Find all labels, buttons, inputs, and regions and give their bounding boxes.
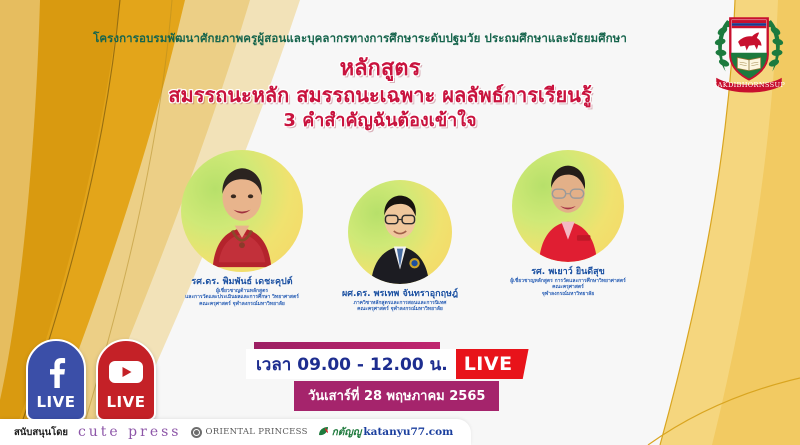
program-subtitle: โครงการอบรมพัฒนาศักยภาพครูผู้สอนและบุคลา… xyxy=(0,30,720,48)
sponsor-cute-press: cute press xyxy=(78,424,182,440)
speaker-card: รศ. พเยาว์ ยินดีสุข ผู้เชี่ยวชาญหลักสูตร… xyxy=(490,150,646,297)
schedule-banner: เวลา 09.00 - 12.00 น. LIVE วันเสาร์ที่ 2… xyxy=(246,342,546,411)
date-text: วันเสาร์ที่ 28 พฤษภาคม 2565 xyxy=(294,381,499,411)
facebook-live-label: LIVE xyxy=(37,393,76,419)
speaker-name: รศ. พเยาว์ ยินดีสุข xyxy=(490,267,646,277)
speaker-org-line-2: จุฬาลงกรณ์มหาวิทยาลัย xyxy=(490,291,646,297)
katanyu-url-label: katanyu77.com xyxy=(363,426,453,438)
status-badge: LIVE xyxy=(456,349,529,379)
sponsor-oriental-princess: ORIENTAL PRINCESS xyxy=(191,427,307,438)
speaker-name: ผศ.ดร. พรเทพ จันทราอุกฤษฎ์ xyxy=(320,289,480,299)
live-platform-badges: LIVE LIVE xyxy=(26,339,156,421)
speaker-list: รศ.ดร. พิมพันธ์ เดชะคุปต์ ผู้เชี่ยวชาญด้… xyxy=(0,150,800,340)
facebook-f-icon xyxy=(43,351,69,393)
avatar xyxy=(181,150,303,272)
title-line-3: 3 คำสำคัญฉันต้องเข้าใจ xyxy=(0,108,760,134)
katanyu-thai-label: กตัญญู xyxy=(332,425,362,440)
speaker-card: ผศ.ดร. พรเทพ จันทราอุกฤษฎ์ ภาควิชาหลักสู… xyxy=(320,180,480,313)
youtube-live-label: LIVE xyxy=(107,393,146,419)
oriental-princess-emblem-icon xyxy=(191,427,202,438)
title-line-2: สมรรถนะหลัก สมรรถนะเฉพาะ ผลลัพธ์การเรียน… xyxy=(0,82,760,108)
facebook-live-badge[interactable]: LIVE xyxy=(26,339,86,421)
sponsors-label: สนับสนุนโดย xyxy=(14,425,68,440)
katanyu-leaf-icon xyxy=(318,426,330,438)
sponsors-strip: สนับสนุนโดย cute press ORIENTAL PRINCESS… xyxy=(0,419,471,445)
speaker-org-line-1: คณะครุศาสตร์ จุฬาลงกรณ์มหาวิทยาลัย xyxy=(320,306,480,312)
time-row: เวลา 09.00 - 12.00 น. LIVE xyxy=(246,349,546,379)
avatar xyxy=(512,150,624,262)
speaker-org-line-2: คณะครุศาสตร์ จุฬาลงกรณ์มหาวิทยาลัย xyxy=(172,301,312,307)
youtube-play-icon xyxy=(109,351,143,393)
oriental-princess-label: ORIENTAL PRINCESS xyxy=(205,427,307,437)
title-line-1: หลักสูตร xyxy=(0,56,760,82)
speaker-org-line-1: และการวัดและประเมินผลและการศึกษา วิทยาศา… xyxy=(172,294,312,300)
speaker-name: รศ.ดร. พิมพันธ์ เดชะคุปต์ xyxy=(172,277,312,287)
youtube-live-badge[interactable]: LIVE xyxy=(96,339,156,421)
webinar-poster: SAKDIBHORNSSUP โครงการอบรมพัฒนาศักยภาพคร… xyxy=(0,0,800,445)
sponsor-katanyu: กตัญญู katanyu77.com xyxy=(318,425,453,440)
speaker-card: รศ.ดร. พิมพันธ์ เดชะคุปต์ ผู้เชี่ยวชาญด้… xyxy=(172,150,312,307)
avatar xyxy=(348,180,452,284)
page-title: หลักสูตร สมรรถนะหลัก สมรรถนะเฉพาะ ผลลัพธ… xyxy=(0,56,760,134)
banner-accent-bar xyxy=(254,342,440,349)
time-text: เวลา 09.00 - 12.00 น. xyxy=(246,349,456,379)
